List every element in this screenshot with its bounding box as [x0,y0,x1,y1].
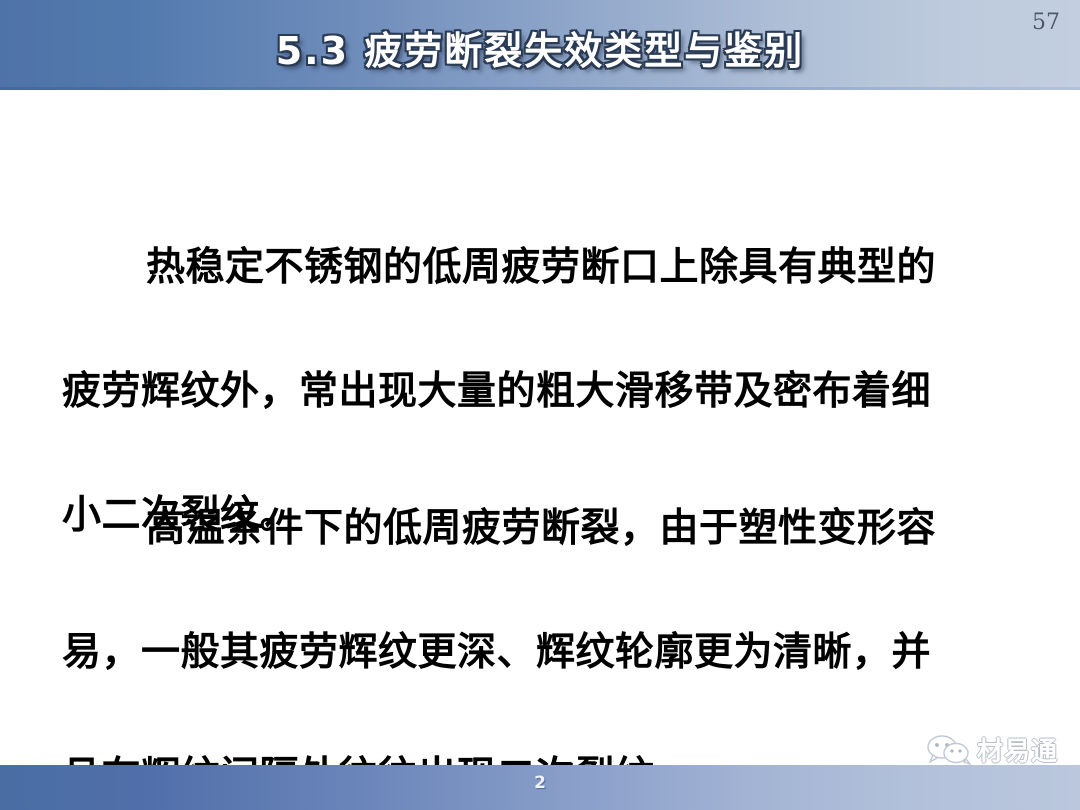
paragraph-1-line-2: 疲劳辉纹外，常出现大量的粗大滑移带及密布着细 [62,360,1018,422]
watermark: 材易通 [927,731,1058,768]
slide-title: 5.3 疲劳断裂失效类型与鉴别 [0,20,1080,75]
paragraph-2-line-1: 高温条件下的低周疲劳断裂，由于塑性变形容 [62,497,1018,559]
paragraph-2-line-2: 易，一般其疲劳辉纹更深、辉纹轮廓更为清晰，并 [62,621,1018,683]
slide-body: 热稳定不锈钢的低周疲劳断口上除具有典型的 疲劳辉纹外，常出现大量的粗大滑移带及密… [0,90,1080,765]
paragraph-2: 高温条件下的低周疲劳断裂，由于塑性变形容 易，一般其疲劳辉纹更深、辉纹轮廓更为清… [62,435,1018,810]
paragraph-1-line-1: 热稳定不锈钢的低周疲劳断口上除具有典型的 [62,236,1018,298]
slide-footer-bar: 2 [0,765,1080,810]
slide-header-bar: 5.3 疲劳断裂失效类型与鉴别 [0,0,1080,90]
watermark-text: 材易通 [977,731,1058,768]
wechat-icon [927,735,971,765]
presentation-slide: 5.3 疲劳断裂失效类型与鉴别 热稳定不锈钢的低周疲劳断口上除具有典型的 疲劳辉… [0,0,1080,810]
slide-number: 57 [1032,10,1060,35]
footer-page-label: 2 [0,773,1080,793]
